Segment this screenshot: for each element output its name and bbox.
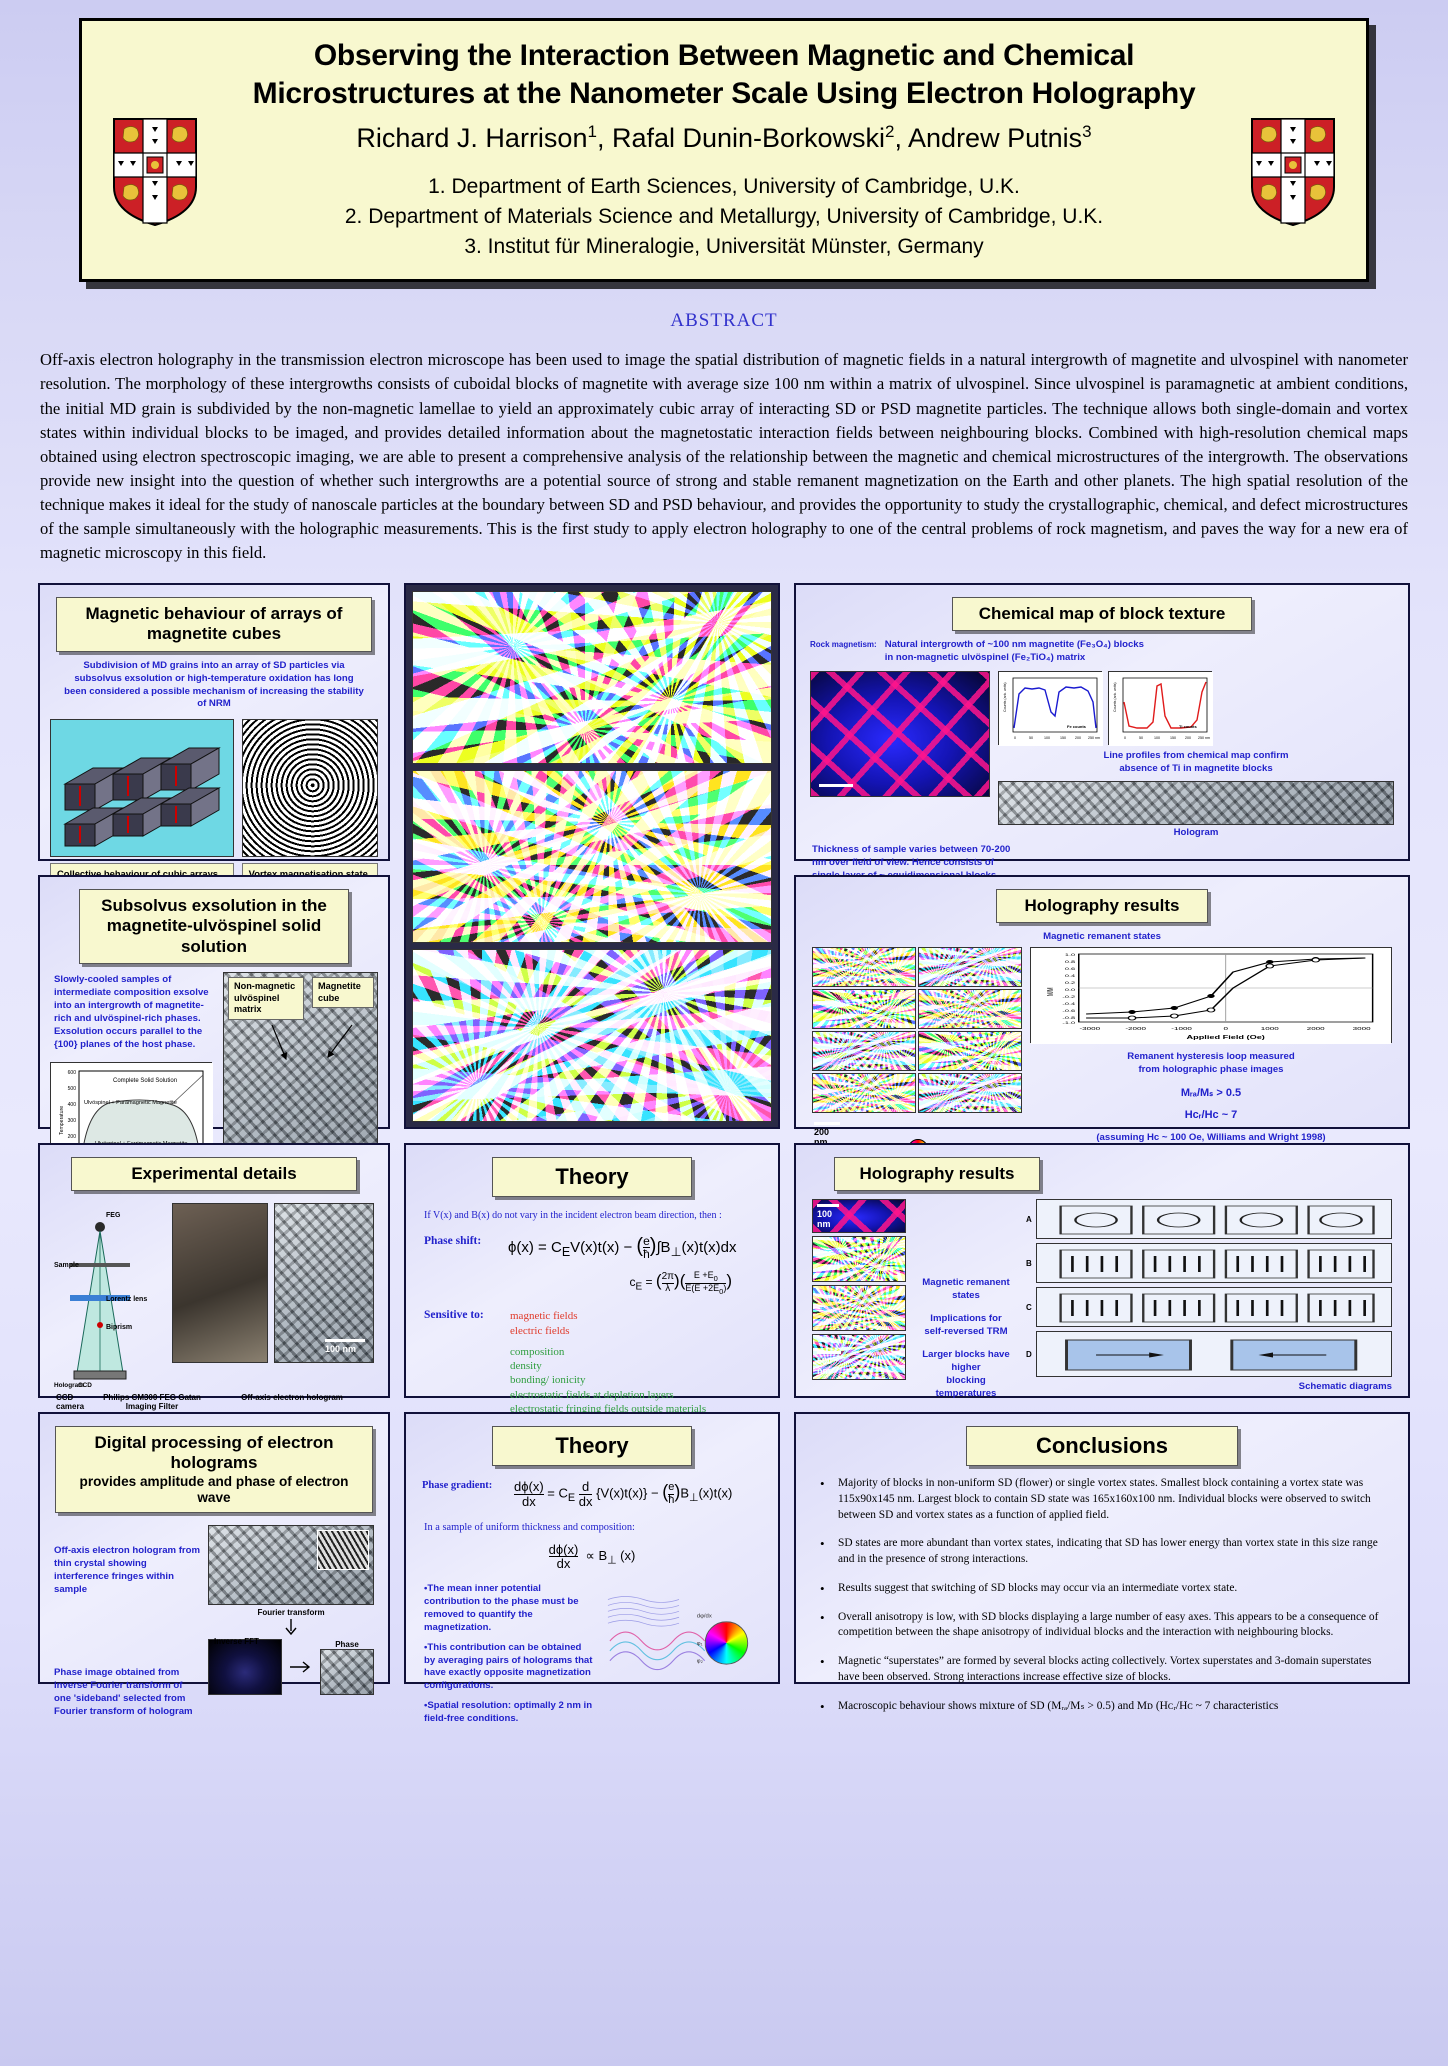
ce-equation-wrap: cE = (2πλ)(E +E0E(E +2E0)) <box>416 1261 768 1295</box>
svg-text:2000: 2000 <box>1307 1027 1325 1032</box>
svg-text:0: 0 <box>1124 736 1126 740</box>
panel-subsolvus-text: Slowly-cooled samples of intermediate co… <box>50 972 217 1054</box>
line-profiles-caption-line2: absence of Ti in magnetite blocks <box>998 763 1394 776</box>
magnetic-states-caption: Magnetic remanent states <box>916 1277 1016 1303</box>
theory-2-uniform-text: In a sample of uniform thickness and com… <box>416 1509 768 1535</box>
svg-text:0: 0 <box>1223 1027 1228 1032</box>
svg-text:Hologram: Hologram <box>54 1382 84 1389</box>
panel-digital-processing: Digital processing of electron holograms… <box>38 1412 390 1684</box>
fringe-image-1 <box>412 591 772 764</box>
affiliation-1: 1. Department of Earth Sciences, Univers… <box>92 172 1356 202</box>
panel-subsolvus-title-line1: Subsolvus exsolution in the <box>90 896 338 916</box>
panel-magnetic-arrays-title: Magnetic behaviour of arrays of magnetit… <box>56 597 372 652</box>
svg-text:400: 400 <box>68 1102 77 1108</box>
conclusion-6: Macroscopic behaviour shows mixture of S… <box>816 1699 1394 1715</box>
theory-1-intro: If V(x) and B(x) do not vary in the inci… <box>416 1205 768 1227</box>
chemical-map-lead-label: Rock magnetism: <box>810 639 877 649</box>
line-profiles-caption-line1: Line profiles from chemical map confirm <box>998 750 1394 763</box>
sensitive-composition: composition <box>510 1345 760 1359</box>
hysteresis-svg: 1.00.80.60.4 0.20.0-0.2-0.4 -0.6-0.8-1.0… <box>1031 948 1391 1044</box>
svg-text:200: 200 <box>1075 736 1081 740</box>
diagram-label-dphidx: dφ/dx <box>697 1613 712 1619</box>
abstract-heading: ABSTRACT <box>22 310 1426 332</box>
ce-equation: cE = (2πλ)(E +E0E(E +2E0)) <box>630 1275 732 1289</box>
author-3-sup: 3 <box>1082 122 1091 141</box>
panel-fringe-montage <box>404 583 780 1129</box>
remanent-map-b <box>918 947 1022 987</box>
content-row-3: Digital processing of electron holograms… <box>22 1412 1426 1684</box>
down-arrow-icon <box>281 1617 301 1637</box>
holography-2-map-c: 500 nm <box>812 1334 906 1380</box>
panel-digital-title-line2: provides amplitude and phase of electron… <box>66 1474 362 1507</box>
phase-gradient-equation: dϕ(x)dx = CE ddx {V(x)t(x)} − (eħ)B⊥(x)t… <box>514 1480 762 1508</box>
svg-text:-0.4: -0.4 <box>1062 1002 1076 1006</box>
svg-text:3000: 3000 <box>1353 1027 1371 1032</box>
vortex-state-figure <box>242 719 378 857</box>
hologram-image <box>998 781 1394 825</box>
author-list: Richard J. Harrison1, Rafal Dunin-Borkow… <box>92 122 1356 154</box>
blocking-line1: Larger blocks have higher <box>916 1349 1016 1375</box>
panel-conclusions: Conclusions Majority of blocks in non-un… <box>794 1412 1410 1684</box>
sensitive-density: density <box>510 1359 760 1373</box>
schematic-c-svg <box>1037 1288 1391 1327</box>
implications-line1: Implications for <box>916 1313 1016 1326</box>
remanent-map-h <box>918 1073 1022 1113</box>
panel-conclusions-title: Conclusions <box>966 1426 1238 1466</box>
theory-2-bullets: •The mean inner potential contribution t… <box>424 1583 594 1726</box>
schematic-d-svg <box>1037 1332 1391 1377</box>
sensitive-bonding: bonding/ ionicity <box>510 1373 760 1387</box>
svg-text:1000: 1000 <box>1261 1027 1279 1032</box>
theory-2-bullet-3: •Spatial resolution: optimally 2 nm in f… <box>424 1700 594 1726</box>
svg-text:150: 150 <box>1170 736 1176 740</box>
svg-text:100: 100 <box>1154 736 1160 740</box>
phase-image <box>320 1649 374 1695</box>
svg-text:Ti counts: Ti counts <box>1179 724 1197 729</box>
schematic-letter-c: C <box>1026 1303 1032 1312</box>
holography-2-map-b <box>812 1285 906 1331</box>
svg-text:-0.6: -0.6 <box>1062 1009 1076 1013</box>
implications-caption: Implications for self-reversed TRM <box>916 1313 1016 1339</box>
ti-line-profile-plot: Counts (arb. units) Ti counts 050100 150… <box>1108 671 1212 745</box>
schematic-c <box>1036 1287 1392 1327</box>
panel-holography-2-title: Holography results <box>834 1157 1040 1191</box>
panel-holography-results-2: Holography results 100 nm 500 nm Magneti… <box>794 1143 1410 1398</box>
conclusion-5: Magnetic “superstates” are formed by sev… <box>816 1654 1394 1685</box>
svg-text:200: 200 <box>1185 736 1191 740</box>
result-mrms: Mᵣₐ/Mₛ > 0.5 <box>1030 1086 1392 1101</box>
svg-text:Sample: Sample <box>54 1262 79 1269</box>
chemmap-scalebar <box>819 784 853 789</box>
sensitive-electric: electric fields <box>510 1324 760 1338</box>
off-axis-hologram-image: 100 nm <box>274 1203 374 1363</box>
remanent-hysteresis-plot: 1.00.80.60.4 0.20.0-0.2-0.4 -0.6-0.8-1.0… <box>1030 947 1392 1043</box>
digital-text-bottom: Phase image obtained from inverse Fourie… <box>54 1667 202 1719</box>
schematic-d <box>1036 1331 1392 1377</box>
svg-text:-1.0: -1.0 <box>1062 1021 1076 1025</box>
chemical-map-lead-line2: in non-magnetic ulvöspinel (Fe₂TiO₄) mat… <box>885 652 1144 665</box>
diagram-label-phi2: φ₂ <box>697 1659 703 1665</box>
svg-text:200: 200 <box>68 1134 77 1140</box>
diagram-label-phi1: φ₁ <box>697 1641 703 1647</box>
theory-2-bullet-2-text: This contribution can be obtained by ave… <box>424 1642 592 1692</box>
svg-text:Fe counts: Fe counts <box>1067 724 1087 729</box>
conclusion-2: SD states are more abundant than vortex … <box>816 1536 1394 1567</box>
sensitive-depletion: electrostatic fields at depletion layers <box>510 1388 760 1402</box>
proportionality-equation-wrap: dϕ(x)dx ∝ B⊥ (x) <box>416 1535 768 1571</box>
schematic-b <box>1036 1243 1392 1283</box>
panel-subsolvus-title-line2: magnetite-ulvöspinel solid solution <box>90 916 338 957</box>
cambridge-crest-right-icon <box>1250 117 1336 227</box>
holography-2-scalebar-100nm: 100 nm <box>817 1204 839 1229</box>
panel-chemical-map-title: Chemical map of block texture <box>952 597 1252 631</box>
affiliation-list: 1. Department of Earth Sciences, Univers… <box>92 172 1356 261</box>
theory-2-bullet-2: •This contribution can be obtained by av… <box>424 1642 594 1694</box>
author-1: Richard J. Harrison <box>356 123 587 153</box>
svg-text:Biprism: Biprism <box>106 1324 132 1331</box>
svg-text:Counts (arb. units): Counts (arb. units) <box>1113 683 1117 713</box>
line-profiles-caption: Line profiles from chemical map confirm … <box>998 750 1394 776</box>
hysteresis-caption-line2: from holographic phase images <box>1030 1064 1392 1077</box>
svg-text:FEG: FEG <box>106 1212 121 1219</box>
chemical-map-image <box>810 671 990 797</box>
author-2: , Rafal Dunin-Borkowski <box>597 123 885 153</box>
panel-holography-results-1: Holography results Magnetic remanent sta… <box>794 875 1410 1129</box>
panel-magnetic-arrays: Magnetic behaviour of arrays of magnetit… <box>38 583 390 861</box>
conclusion-3: Results suggest that switching of SD blo… <box>816 1581 1394 1597</box>
theory-2-bullet-1: •The mean inner potential contribution t… <box>424 1583 594 1635</box>
ccd-camera-label: CCD camera <box>56 1393 92 1411</box>
remanent-map-e <box>812 1031 916 1071</box>
microscope-schematic: FEG Sample Lorentz lens Biprism CCD Holo… <box>54 1203 166 1389</box>
svg-text:250 nm: 250 nm <box>1198 736 1210 740</box>
conclusion-4: Overall anisotropy is low, with SD block… <box>816 1610 1394 1641</box>
svg-text:0.2: 0.2 <box>1065 981 1075 985</box>
microscope-photo <box>172 1203 268 1363</box>
schematic-a <box>1036 1199 1392 1239</box>
hysteresis-caption: Remanent hysteresis loop measured from h… <box>1030 1051 1392 1077</box>
svg-text:-3000: -3000 <box>1079 1027 1100 1032</box>
phase-region-mid: Ulvöspinel + Paramagnetic Magnetite <box>84 1100 177 1106</box>
svg-text:0.8: 0.8 <box>1065 960 1076 964</box>
theory-2-bullet-3-text: Spatial resolution: optimally 2 nm in fi… <box>424 1700 592 1724</box>
ti-profile-svg: Counts (arb. units) Ti counts 050100 150… <box>1109 672 1213 746</box>
chemical-map-lead-text: Natural intergrowth of ~100 nm magnetite… <box>885 639 1144 665</box>
remanent-map-g <box>812 1073 916 1113</box>
holography-2-map-a <box>812 1236 906 1282</box>
holography-2-scalebar-500nm: 500 nm <box>817 1351 841 1376</box>
panel-magnetic-arrays-intro: Subdivision of MD grains into an array o… <box>50 660 378 712</box>
author-2-sup: 2 <box>885 122 894 141</box>
panel-subsolvus: Subsolvus exsolution in the magnetite-ul… <box>38 875 390 1129</box>
remanent-map-f <box>918 1031 1022 1071</box>
svg-text:-0.2: -0.2 <box>1062 995 1075 999</box>
svg-text:0.4: 0.4 <box>1065 974 1076 978</box>
theory-2-diagram: dφ/dx φ₁ φ₂ <box>602 1583 760 1726</box>
digital-text-top: Off-axis electron hologram from thin cry… <box>54 1545 202 1597</box>
svg-text:Lorentz lens: Lorentz lens <box>106 1296 147 1303</box>
off-axis-hologram-label: Off-axis electron hologram <box>212 1393 372 1402</box>
hologram-zoom-inset <box>317 1530 369 1570</box>
schematic-a-svg <box>1037 1200 1391 1239</box>
schematic-letter-d: D <box>1026 1350 1032 1359</box>
chemical-map-lead-line1: Natural intergrowth of ~100 nm magnetite… <box>885 639 1144 652</box>
panel-subsolvus-title: Subsolvus exsolution in the magnetite-ul… <box>79 889 349 964</box>
schematic-letter-b: B <box>1026 1259 1032 1268</box>
title-box: Observing the Interaction Between Magnet… <box>79 18 1369 282</box>
poster-title: Observing the Interaction Between Magnet… <box>92 37 1356 112</box>
fourier-transform-label: Fourier transform <box>208 1608 374 1617</box>
svg-text:150: 150 <box>1060 736 1066 740</box>
right-column-row1: Chemical map of block texture Rock magne… <box>794 583 1410 1129</box>
schematic-caption: Schematic diagrams <box>1026 1381 1392 1394</box>
remanent-map-a <box>812 947 916 987</box>
panel-experimental-details: Experimental details FEG Sample Lorentz … <box>38 1143 390 1398</box>
svg-text:600: 600 <box>68 1070 77 1076</box>
schematic-column: A <box>1026 1199 1392 1401</box>
holography-2-chemmap: 100 nm <box>812 1199 906 1233</box>
affiliation-3: 3. Institut für Mineralogie, Universität… <box>92 232 1356 262</box>
panel-holography-1-title: Holography results <box>996 889 1208 923</box>
proportionality-equation: dϕ(x)dx ∝ B⊥ (x) <box>549 1548 636 1563</box>
svg-text:100: 100 <box>1044 736 1050 740</box>
panel-theory-1: Theory If V(x) and B(x) do not vary in t… <box>404 1143 780 1398</box>
remanent-map-c <box>812 989 916 1029</box>
svg-text:-0.8: -0.8 <box>1062 1016 1076 1020</box>
implications-line2: self-reversed TRM <box>916 1326 1016 1339</box>
theory-2-bullet-1-text: The mean inner potential contribution to… <box>424 1583 579 1633</box>
phase-gradient-diagram-svg: dφ/dx φ₁ φ₂ <box>602 1583 760 1693</box>
content-row-1: Magnetic behaviour of arrays of magnetit… <box>22 583 1426 1129</box>
conclusion-1: Majority of blocks in non-uniform SD (fl… <box>816 1476 1394 1523</box>
hysteresis-caption-line1: Remanent hysteresis loop measured <box>1030 1051 1392 1064</box>
svg-text:0.6: 0.6 <box>1065 967 1076 971</box>
result-hcrhc: Hᴄᵣ/Hᴄ ~ 7 <box>1030 1108 1392 1123</box>
phase-shift-label: Phase shift: <box>424 1235 500 1247</box>
svg-text:-2000: -2000 <box>1125 1027 1146 1032</box>
panel-experimental-title: Experimental details <box>71 1157 357 1191</box>
svg-text:0: 0 <box>1014 736 1016 740</box>
conclusions-list: Majority of blocks in non-uniform SD (fl… <box>816 1476 1394 1714</box>
schematic-b-svg <box>1037 1244 1391 1283</box>
svg-text:0.0: 0.0 <box>1065 988 1076 992</box>
cube-array-svg <box>51 720 234 857</box>
hologram-fringe-image <box>208 1525 374 1605</box>
holography-2-left-column: 100 nm 500 nm <box>812 1199 906 1401</box>
svg-text:-1000: -1000 <box>1171 1027 1192 1032</box>
blocking-caption: Larger blocks have higher blocking tempe… <box>916 1349 1016 1401</box>
fringe-image-3 <box>412 949 772 1122</box>
sensitive-to-label: Sensitive to: <box>424 1309 500 1321</box>
phase-region-top: Complete Solid Solution <box>113 1078 177 1084</box>
svg-text:250 nm: 250 nm <box>1088 736 1100 740</box>
holography-1-subtitle: Magnetic remanent states <box>806 931 1398 944</box>
fourier-transform-arrow-group: Fourier transform <box>208 1608 374 1637</box>
fringe-image-2 <box>412 770 772 943</box>
svg-text:M/M: M/M <box>1047 988 1056 997</box>
abstract-text: Off-axis electron holography in the tran… <box>22 348 1426 564</box>
blocking-line2: blocking temperatures <box>916 1375 1016 1401</box>
remanent-map-d <box>918 989 1022 1029</box>
svg-text:Counts (arb. units): Counts (arb. units) <box>1003 683 1007 713</box>
phase-gradient-label: Phase gradient: <box>422 1480 508 1491</box>
poster-root: Observing the Interaction Between Magnet… <box>0 18 1448 2066</box>
svg-text:50: 50 <box>1029 736 1033 740</box>
panel-digital-title-line1: Digital processing of electron holograms <box>66 1433 362 1474</box>
experimental-scalebar: 100 nm <box>325 1339 365 1354</box>
phase-ylabel: Temperature <box>59 1105 65 1134</box>
hologram-label: Hologram <box>998 827 1394 840</box>
panel-theory-2-title: Theory <box>492 1426 692 1466</box>
cambridge-crest-left-icon <box>112 117 198 227</box>
content-row-2: Experimental details FEG Sample Lorentz … <box>22 1143 1426 1398</box>
remanent-state-montage: 200 nm <box>812 947 1022 1145</box>
panel-digital-title: Digital processing of electron holograms… <box>55 1426 373 1513</box>
svg-text:50: 50 <box>1139 736 1143 740</box>
right-arrow-icon <box>288 1657 314 1677</box>
left-column-row1: Magnetic behaviour of arrays of magnetit… <box>38 583 390 1129</box>
magnetite-cube-array-figure <box>50 719 234 857</box>
svg-text:1.0: 1.0 <box>1065 953 1076 957</box>
panel-chemical-map: Chemical map of block texture Rock magne… <box>794 583 1410 861</box>
inverse-fft-label: Inverse FFT <box>214 1637 380 1646</box>
panel-theory-2: Theory Phase gradient: dϕ(x)dx = CE ddx … <box>404 1412 780 1684</box>
fe-profile-svg: Counts (arb. units) Fe counts 050100 150… <box>999 672 1103 746</box>
fe-line-profile-plot: Counts (arb. units) Fe counts 050100 150… <box>998 671 1102 745</box>
svg-text:500: 500 <box>68 1086 77 1092</box>
fourier-transform-image <box>208 1639 282 1695</box>
svg-text:300: 300 <box>68 1118 77 1124</box>
author-1-sup: 1 <box>587 122 596 141</box>
holography-2-notes: Magnetic remanent states Implications fo… <box>916 1199 1016 1401</box>
sensitive-magnetic: magnetic fields <box>510 1309 760 1323</box>
svg-text:Applied Field (Oe): Applied Field (Oe) <box>1187 1034 1266 1040</box>
author-3: , Andrew Putnis <box>895 123 1083 153</box>
affiliation-2: 2. Department of Materials Science and M… <box>92 202 1356 232</box>
panel-theory-1-title: Theory <box>492 1157 692 1197</box>
schematic-letter-a: A <box>1026 1215 1032 1224</box>
phase-shift-equation: ϕ(x) = CEV(x)t(x) − (eħ)∫B⊥(x)t(x)dx <box>508 1235 760 1261</box>
microscope-label: Philips CM300 FEG Gatan Imaging Filter <box>100 1393 204 1411</box>
